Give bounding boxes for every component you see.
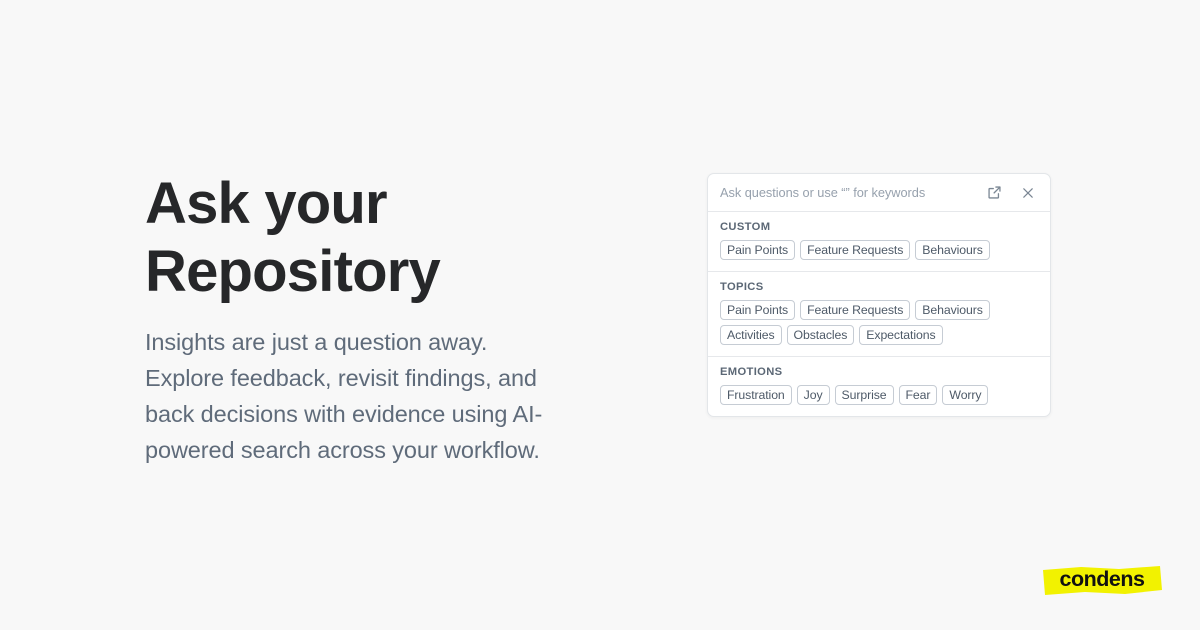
chip-obstacles[interactable]: Obstacles [787, 325, 855, 345]
section-emotions: EMOTIONS Frustration Joy Surprise Fear W… [708, 357, 1050, 416]
hero-description: Insights are just a question away. Explo… [145, 324, 570, 468]
condens-logo: condens [1041, 564, 1163, 596]
chip-behaviours[interactable]: Behaviours [915, 300, 990, 320]
chip-row-topics: Pain Points Feature Requests Behaviours … [720, 300, 1038, 345]
search-panel-header: Ask questions or use “” for keywords [708, 174, 1050, 212]
chip-feature-requests[interactable]: Feature Requests [800, 300, 910, 320]
chip-surprise[interactable]: Surprise [835, 385, 894, 405]
section-topics: TOPICS Pain Points Feature Requests Beha… [708, 272, 1050, 357]
chip-activities[interactable]: Activities [720, 325, 782, 345]
logo-text: condens [1041, 564, 1163, 596]
chip-fear[interactable]: Fear [899, 385, 938, 405]
close-icon[interactable] [1017, 182, 1039, 204]
search-input[interactable]: Ask questions or use “” for keywords [720, 185, 983, 200]
section-custom: CUSTOM Pain Points Feature Requests Beha… [708, 212, 1050, 272]
chip-frustration[interactable]: Frustration [720, 385, 792, 405]
section-label-topics: TOPICS [720, 281, 1038, 293]
search-panel: Ask questions or use “” for keywords CUS… [707, 173, 1051, 417]
chip-behaviours[interactable]: Behaviours [915, 240, 990, 260]
chip-expectations[interactable]: Expectations [859, 325, 942, 345]
chip-feature-requests[interactable]: Feature Requests [800, 240, 910, 260]
chip-pain-points[interactable]: Pain Points [720, 300, 795, 320]
chip-worry[interactable]: Worry [942, 385, 988, 405]
chip-pain-points[interactable]: Pain Points [720, 240, 795, 260]
chip-row-custom: Pain Points Feature Requests Behaviours [720, 240, 1038, 260]
chip-row-emotions: Frustration Joy Surprise Fear Worry [720, 385, 1038, 405]
external-link-icon[interactable] [983, 182, 1005, 204]
hero-section: Ask your Repository Insights are just a … [145, 170, 595, 468]
section-label-custom: CUSTOM [720, 221, 1038, 233]
section-label-emotions: EMOTIONS [720, 366, 1038, 378]
page-title: Ask your Repository [145, 170, 595, 306]
chip-joy[interactable]: Joy [797, 385, 830, 405]
